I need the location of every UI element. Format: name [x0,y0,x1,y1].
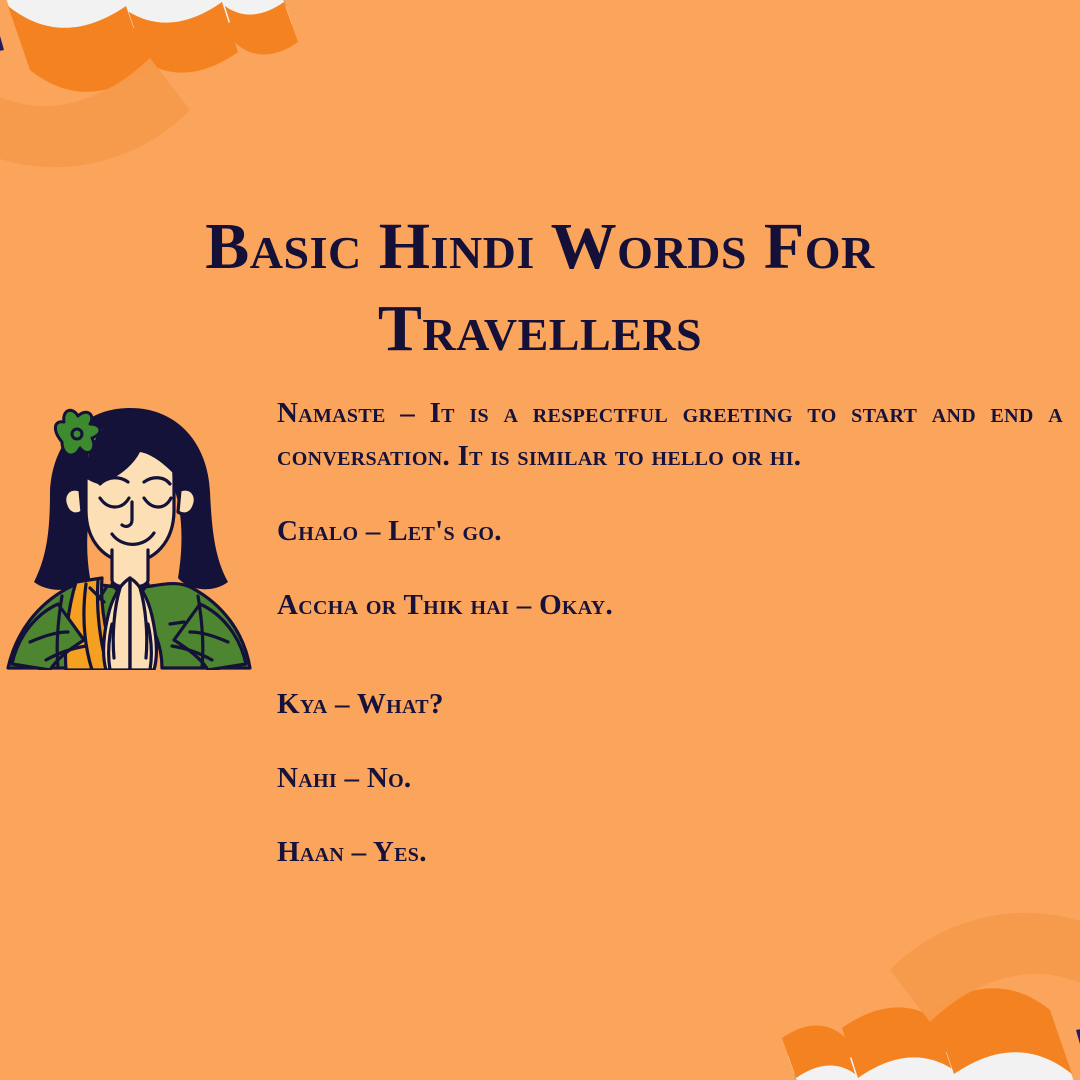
phrase-chalo: Chalo – Let's go. [277,510,1063,553]
page-title-line-2: Travellers [110,288,970,370]
flag-two-icon [82,0,238,73]
page-title: Basic Hindi Words For Travellers [110,206,970,370]
woman-namaste-greeting-illustration [2,392,254,670]
indian-tricolor-flags-bottom-right [780,870,1080,1080]
flag-three-icon [782,1025,890,1080]
phrase-kya: Kya – What? [277,683,1063,726]
flag-one-icon [890,913,1080,1080]
poster-canvas: Basic Hindi Words For Travellers [0,0,1080,1080]
flag-two-icon [842,1007,998,1080]
flag-one-icon [0,0,190,167]
flag-three-icon [190,0,298,55]
phrase-nahi: Nahi – No. [277,757,1063,800]
page-title-line-1: Basic Hindi Words For [110,206,970,288]
phrase-haan: Haan – Yes. [277,831,1063,874]
indian-tricolor-flags-top-left [0,0,300,210]
phrase-namaste: Namaste – It is a respectful greeting to… [277,392,1063,478]
phrase-list: Namaste – It is a respectful greeting to… [277,392,1063,874]
phrase-accha: Accha or Thik hai – Okay. [277,584,1063,627]
